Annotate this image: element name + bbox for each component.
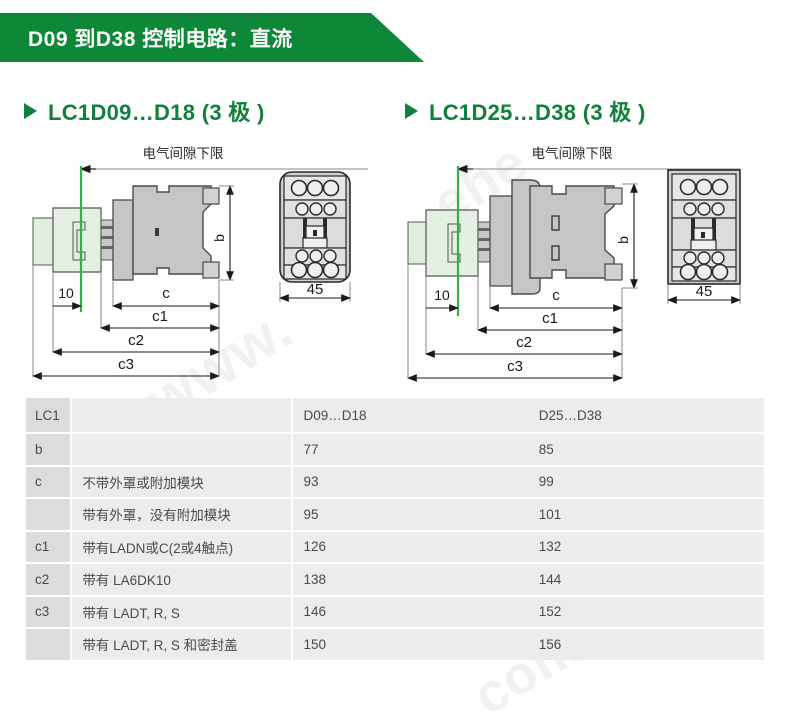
row-value-d25: 152: [529, 596, 764, 629]
row-desc: [71, 433, 292, 466]
row-desc: 带有 LA6DK10: [71, 563, 292, 596]
table-row: 带有外罩，没有附加模块 95 101: [26, 498, 764, 531]
row-desc: 带有LADN或C(2或4触点): [71, 531, 292, 564]
dim-b-label: b: [615, 236, 631, 244]
row-desc: 带有外罩，没有附加模块: [71, 498, 292, 531]
dim-c2-label: c2: [128, 332, 144, 349]
row-value-d09: 138: [292, 563, 528, 596]
drawing-svg: 电气间隙下限 b 10 c c1: [400, 140, 770, 390]
table-row: c1 带有LADN或C(2或4触点) 126 132: [26, 531, 764, 564]
front-view: 45: [668, 170, 740, 304]
dim-45-label: 45: [696, 283, 713, 300]
dim-c-label: c: [162, 285, 170, 302]
triangle-right-icon: [405, 103, 418, 119]
dim-10-label: 10: [434, 287, 450, 303]
technical-drawing-lc1d25-d38: 电气间隙下限 b 10 c c1: [400, 140, 770, 395]
row-desc: 带有 LADT, R, S: [71, 596, 292, 629]
row-value-d09: 150: [292, 628, 528, 660]
row-desc: 不带外罩或附加模块: [71, 466, 292, 499]
section-heading-label: LC1D09…D18 (3 极 ): [48, 95, 265, 127]
section-heading-right: LC1D25…D38 (3 极 ): [405, 95, 646, 127]
clearance-label: 电气间隙下限: [143, 146, 224, 161]
technical-drawing-lc1d09-d18: 电气间隙下限 b 10 c: [18, 140, 378, 395]
row-key: b: [26, 433, 71, 466]
row-value-d25: 85: [529, 433, 764, 466]
dim-c1-label: c1: [542, 310, 558, 327]
row-value-d09: 126: [292, 531, 528, 564]
row-value-d25: 156: [529, 628, 764, 660]
dim-45-label: 45: [307, 281, 324, 298]
row-value-d25: 132: [529, 531, 764, 564]
dim-b-label: b: [211, 234, 227, 242]
front-view: 45: [280, 172, 350, 302]
row-value-d25: 101: [529, 498, 764, 531]
row-key: c2: [26, 563, 71, 596]
row-value-d25: 99: [529, 466, 764, 499]
table-row: c 不带外罩或附加模块 93 99: [26, 466, 764, 499]
dim-c2-label: c2: [516, 334, 532, 351]
triangle-right-icon: [24, 103, 37, 119]
dim-10-label: 10: [58, 285, 74, 301]
table-row: c2 带有 LA6DK10 138 144: [26, 563, 764, 596]
row-key: [26, 628, 71, 660]
dim-c1-label: c1: [152, 308, 168, 325]
row-value-d09: 77: [292, 433, 528, 466]
table-header-col2: D25…D38: [529, 398, 764, 433]
page-title: D09 到D38 控制电路：直流: [28, 13, 293, 62]
row-value-d25: 144: [529, 563, 764, 596]
row-key: c3: [26, 596, 71, 629]
table-body: LC1 D09…D18 D25…D38 b 77 85 c 不带外罩或附加模块 …: [26, 398, 764, 660]
section-heading-left: LC1D09…D18 (3 极 ): [24, 95, 265, 127]
table-header-desc: [71, 398, 292, 433]
row-value-d09: 93: [292, 466, 528, 499]
table-header-key: LC1: [26, 398, 71, 433]
dimensions-table: LC1 D09…D18 D25…D38 b 77 85 c 不带外罩或附加模块 …: [26, 398, 764, 660]
drawing-svg: 电气间隙下限 b 10 c: [18, 140, 378, 390]
section-heading-label: LC1D25…D38 (3 极 ): [429, 95, 646, 127]
dim-c-label: c: [552, 287, 560, 304]
table-header-col1: D09…D18: [292, 398, 528, 433]
clearance-label: 电气间隙下限: [532, 146, 613, 161]
table-row: b 77 85: [26, 433, 764, 466]
row-desc: 带有 LADT, R, S 和密封盖: [71, 628, 292, 660]
table-header-row: LC1 D09…D18 D25…D38: [26, 398, 764, 433]
table-row: 带有 LADT, R, S 和密封盖 150 156: [26, 628, 764, 660]
table-row: c3 带有 LADT, R, S 146 152: [26, 596, 764, 629]
row-value-d09: 95: [292, 498, 528, 531]
dim-c3-label: c3: [118, 356, 134, 373]
row-key: [26, 498, 71, 531]
dim-c3-label: c3: [507, 358, 523, 375]
row-key: c1: [26, 531, 71, 564]
row-key: c: [26, 466, 71, 499]
row-value-d09: 146: [292, 596, 528, 629]
